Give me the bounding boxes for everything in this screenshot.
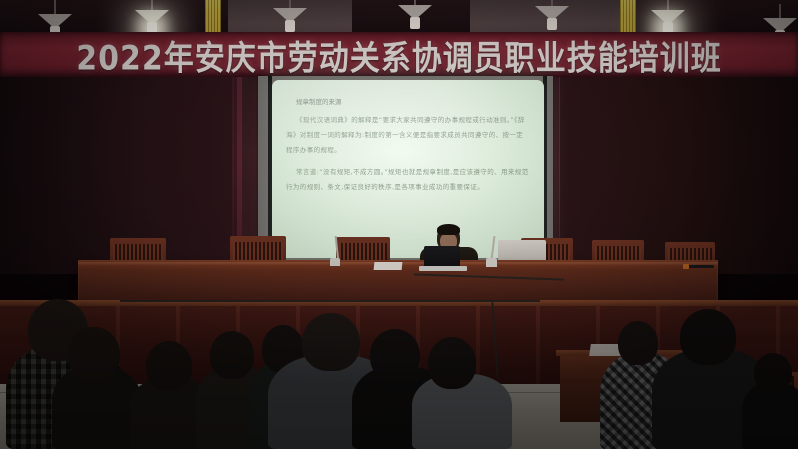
lamp-bulb — [410, 17, 420, 29]
speaker-hair — [437, 224, 460, 235]
slide-title: 规章制度的来源 — [296, 97, 530, 107]
attendee-head — [68, 327, 120, 381]
projection-screen: 规章制度的来源 《现代汉语词典》的解释是“要求大家共同遵守的办事规程或行动准则。… — [272, 80, 544, 258]
paper-stack — [374, 262, 403, 270]
microphone-on-table — [688, 265, 714, 268]
microphone-base — [486, 258, 497, 267]
slide-paragraph-1: 《现代汉语词典》的解释是“要求大家共同遵守的办事规程或行动准则。”《辞海》对制度… — [286, 113, 530, 158]
attendee-head — [680, 309, 736, 365]
laptop-screen — [424, 246, 460, 268]
ceiling-tassel-1 — [620, 0, 636, 34]
microphone-base-left — [330, 258, 340, 266]
banner-title: 2022年安庆市劳动关系协调员职业技能培训班 — [76, 32, 722, 77]
attendee-head — [146, 341, 192, 391]
lamp-bulb — [285, 20, 295, 32]
attendee-far-right — [742, 353, 798, 449]
attendee-head — [754, 353, 792, 393]
event-banner: 2022年安庆市劳动关系协调员职业技能培训班 — [0, 32, 798, 77]
attendee-head — [210, 331, 254, 379]
attendee-left-2 — [52, 327, 142, 449]
slide-paragraph-2: 常言道:“没有规矩,不成方圆。”规矩也就是规章制度,是应该遵守的、用来规范行为的… — [286, 165, 530, 195]
presentation-slide: 规章制度的来源 《现代汉语词典》的解释是“要求大家共同遵守的办事规程或行动准则。… — [272, 80, 544, 258]
lamp-stem — [779, 4, 781, 19]
attendee-head — [428, 337, 476, 389]
attendee-white-shirt — [412, 337, 512, 449]
laptop-base — [419, 266, 467, 271]
lamp-stem — [54, 0, 56, 15]
ceiling-tassel-0 — [205, 0, 221, 34]
photo-scene: 2022年安庆市劳动关系协调员职业技能培训班 规章制度的来源 《现代汉语词典》的… — [0, 0, 798, 449]
cable-stage — [120, 300, 540, 302]
lamp-bulb — [547, 18, 557, 30]
